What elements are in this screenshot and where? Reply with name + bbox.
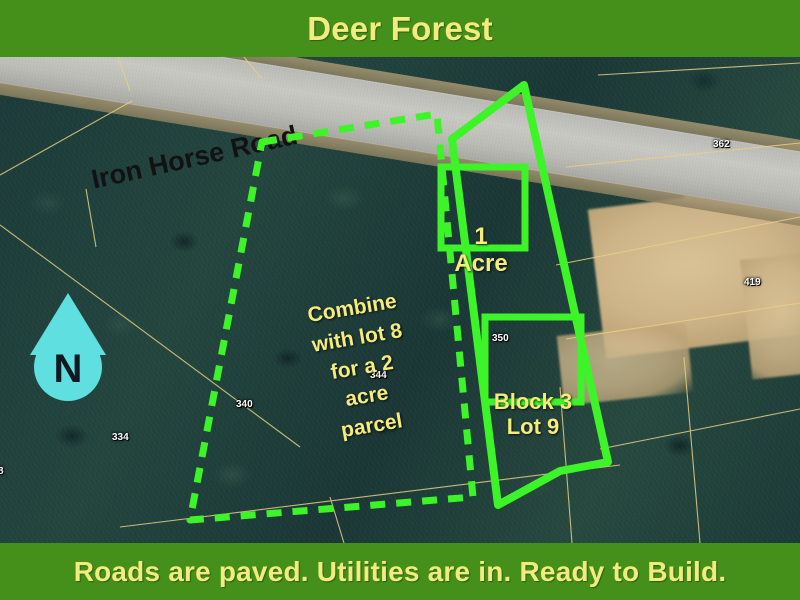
compass-north-letter: N [54,347,83,391]
listing-flyer: Deer Forest [0,0,800,600]
north-arrow: N [26,291,110,403]
acre-box-label: 1 Acre [437,224,525,278]
bottom-banner: Roads are paved. Utilities are in. Ready… [0,543,800,600]
tagline: Roads are paved. Utilities are in. Ready… [74,556,727,588]
page-title: Deer Forest [307,10,493,48]
aerial-map: 3624193503443403348 Iron Horse Road N 1 … [0,57,800,543]
combine-parcel-label: Combine with lot 8 for a 2 acre parcel [289,284,436,451]
block-lot-box-label: Block 3 Lot 9 [481,390,585,439]
lot-9-solid-outline[interactable] [452,85,608,505]
top-banner: Deer Forest [0,0,800,57]
